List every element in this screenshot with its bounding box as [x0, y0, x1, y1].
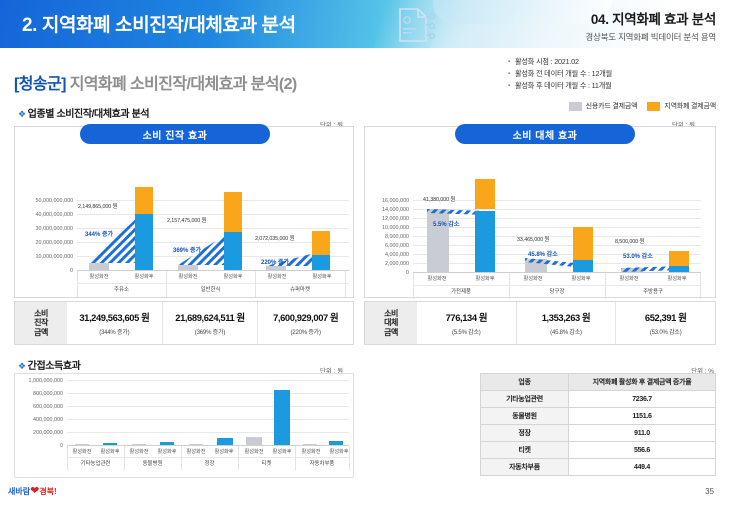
summary-label-substitution: 소비대체금액	[365, 302, 417, 344]
page-title-region: [청송군]	[14, 76, 66, 93]
data-label: 2,157,475,000 원	[167, 216, 206, 224]
summary-cell: 31,249,563,605 원 (344% 증가)	[67, 302, 162, 344]
x-group-label: 주방용구	[605, 287, 701, 295]
consumption-boost-chart: 50,000,000,000 40,000,000,000 30,000,000…	[15, 127, 353, 297]
header-right-block: 04. 지역화폐 효과 분석 경상북도 지역화폐 빅데이터 분석 용역	[585, 8, 716, 43]
gridline	[67, 393, 349, 394]
table-row: 동물병원 1151.6	[481, 408, 716, 425]
x-subtick: 활성화전	[605, 275, 653, 282]
group-divider	[67, 457, 349, 458]
bar-after-credit	[475, 211, 495, 272]
legend-swatch-local	[647, 102, 660, 111]
y-tick: 0	[365, 270, 409, 276]
x-subtick: 활성화후	[211, 273, 255, 280]
consumption-boost-chart-panel: 50,000,000,000 40,000,000,000 30,000,000…	[14, 126, 354, 298]
table-cell-category: 기타농업관련	[481, 391, 569, 408]
summary-value: 7,600,929,007 원	[273, 310, 338, 324]
indirect-income-chart-panel: 1,000,000,000 800,000,000 600,000,000 40…	[14, 373, 354, 478]
gridline	[413, 245, 701, 246]
x-group-label: 당구장	[509, 287, 605, 295]
x-subtick: 활성화전	[255, 273, 299, 280]
y-tick: 6,000,000	[365, 243, 409, 249]
table-cell-category: 티켓	[481, 442, 569, 459]
summary-value: 1,353,263 원	[542, 310, 591, 324]
x-group-label: 동물병원	[124, 459, 181, 467]
x-subtick: 활성화후	[653, 275, 701, 282]
table-row: 기타농업관련 7236.7	[481, 391, 716, 408]
x-group-label: 주유소	[77, 285, 166, 293]
section-heading-2: ❖간접소득효과	[18, 357, 80, 372]
y-tick: 20,000,000,000	[17, 240, 73, 246]
summary-cell: 652,391 원 (53.0% 감소)	[615, 302, 715, 344]
bar-after-credit	[135, 214, 153, 270]
table-cell-value: 449.4	[569, 459, 716, 476]
gridline	[413, 200, 701, 201]
y-tick: 0	[15, 443, 63, 449]
increase-rate-table: 업종 지역화폐 활성화 후 결제금액 증가율 기타농업관련 7236.7 동물병…	[480, 373, 716, 476]
summary-cell: 776,134 원 (5.5% 감소)	[417, 302, 516, 344]
bar-before	[246, 437, 262, 445]
table-cell-category: 동물병원	[481, 408, 569, 425]
bar-after	[217, 438, 233, 445]
legend-swatch-credit	[569, 102, 582, 111]
group-separator	[255, 271, 256, 297]
logo-text-a: 새바람	[8, 487, 30, 496]
x-group-label: 슈퍼마켓	[255, 285, 345, 293]
consumption-substitution-chart: 16,000,000 14,000,000 12,000,000 10,000,…	[365, 127, 715, 297]
group-separator	[166, 271, 167, 297]
y-tick: 50,000,000,000	[17, 198, 73, 204]
diamond-bullet-icon-2: ❖	[18, 361, 26, 371]
x-group-label: 기타농업관련	[67, 459, 124, 467]
percent-label: 344% 증가	[85, 229, 113, 238]
bar-after-local	[224, 192, 242, 232]
summary-cells: 776,134 원 (5.5% 감소) 1,353,263 원 (45.8% 감…	[417, 302, 715, 344]
gridline	[77, 200, 349, 201]
percent-label: 53.0% 감소	[623, 251, 653, 260]
table-header-cell: 업종	[481, 374, 569, 391]
bullet-item: 활성화 전 데이터 개월 수 : 12개월	[508, 68, 612, 80]
document-network-icon	[392, 6, 438, 44]
bar-after-local	[135, 187, 153, 214]
consumption-substitution-chart-panel: 16,000,000 14,000,000 12,000,000 10,000,…	[364, 126, 716, 298]
bar-after-local	[312, 231, 330, 255]
group-separator	[700, 273, 701, 299]
gridline	[67, 432, 349, 433]
summary-percent: (53.0% 감소)	[650, 327, 682, 336]
x-group-label: 가전제품	[413, 287, 509, 295]
y-tick: 2,000,000	[365, 261, 409, 267]
bar-after-credit	[224, 232, 242, 270]
y-tick: 0	[17, 268, 73, 274]
indirect-income-chart: 1,000,000,000 800,000,000 600,000,000 40…	[15, 374, 353, 477]
summary-cell: 1,353,263 원 (45.8% 감소)	[516, 302, 616, 344]
summary-label-boost: 소비진작금액	[15, 302, 67, 344]
x-subtick: 활성화후	[300, 273, 344, 280]
table-cell-category: 정장	[481, 425, 569, 442]
logo-text-c: 경북!	[39, 487, 56, 496]
bullet-item: 활성화 시점 : 2021.02	[508, 56, 612, 68]
group-separator	[413, 273, 414, 299]
bar-before	[132, 444, 146, 445]
group-separator	[345, 271, 346, 297]
chart-title-consumption-substitution: 소비 대체 효과	[455, 124, 635, 144]
group-divider	[77, 283, 349, 284]
x-subtick: 활성화후	[320, 448, 358, 455]
y-tick: 800,000,000	[15, 391, 63, 397]
x-subtick: 활성화후	[461, 275, 509, 282]
summary-percent: (45.8% 감소)	[550, 327, 582, 336]
y-tick: 10,000,000,000	[17, 254, 73, 260]
summary-percent: (344% 증가)	[99, 327, 129, 336]
group-separator	[605, 273, 606, 299]
header-title: 2. 지역화폐 소비진작/대체효과 분석	[22, 10, 296, 37]
table-cell-category: 자동차부품	[481, 459, 569, 476]
bar-after	[329, 441, 343, 445]
data-label: 41,380,000 원	[423, 195, 455, 203]
section-heading-2-label: 간접소득효과	[28, 361, 81, 372]
summary-value: 21,689,624,511 원	[175, 310, 244, 324]
summary-cell: 7,600,929,007 원 (220% 증가)	[257, 302, 353, 344]
organization-logo: 새바람❤경북!	[8, 484, 57, 497]
table-row: 정장 911.0	[481, 425, 716, 442]
group-separator	[509, 273, 510, 299]
percent-label: 369% 증가	[173, 245, 201, 254]
summary-value: 652,391 원	[645, 310, 687, 324]
summary-percent: (220% 증가)	[291, 327, 321, 336]
x-group-label: 티켓	[238, 459, 295, 467]
increase-wedge	[89, 214, 141, 270]
percent-label: 45.8% 감소	[528, 249, 558, 258]
bar-after	[274, 390, 290, 445]
y-tick: 40,000,000,000	[17, 212, 73, 218]
summary-value: 776,134 원	[446, 310, 488, 324]
x-axis-line	[77, 270, 349, 271]
heart-icon: ❤	[30, 485, 39, 497]
summary-cells: 31,249,563,605 원 (344% 증가) 21,689,624,51…	[67, 302, 353, 344]
summary-percent: (5.5% 감소)	[452, 327, 481, 336]
table-cell-value: 1151.6	[569, 408, 716, 425]
percent-label: 220% 증가	[261, 257, 289, 266]
y-tick: 30,000,000,000	[17, 226, 73, 232]
consumption-boost-summary-row: 소비진작금액 31,249,563,605 원 (344% 증가) 21,689…	[14, 301, 354, 345]
group-separator	[349, 446, 350, 470]
summary-cell: 21,689,624,511 원 (369% 증가)	[162, 302, 258, 344]
x-subtick: 활성화전	[413, 275, 461, 282]
gridline	[67, 406, 349, 407]
page-number: 35	[705, 487, 714, 496]
table-cell-value: 556.6	[569, 442, 716, 459]
chart-title-consumption-boost: 소비 진작 효과	[80, 124, 270, 144]
header-bullet-list: 활성화 시점 : 2021.02 활성화 전 데이터 개월 수 : 12개월 활…	[508, 56, 612, 92]
bar-after-credit	[312, 255, 330, 270]
table-row: 티켓 556.6	[481, 442, 716, 459]
group-separator	[77, 271, 78, 297]
group-divider	[413, 285, 701, 286]
slide-header: 2. 지역화폐 소비진작/대체효과 분석 04. 지역화폐 효과 분석 경상북도…	[0, 0, 730, 48]
x-group-label: 일반한식	[166, 285, 255, 293]
gridline	[67, 380, 349, 381]
chart-legend: 신용카드 결제금액 지역화폐 결제금액	[569, 101, 716, 111]
table-header-cell: 지역화폐 활성화 후 결제금액 증가율	[569, 374, 716, 391]
bar-after-local	[669, 251, 689, 266]
data-label: 8,500,000 원	[615, 237, 644, 245]
gridline	[67, 419, 349, 420]
y-tick: 400,000,000	[15, 417, 63, 423]
consumption-substitution-summary-row: 소비대체금액 776,134 원 (5.5% 감소) 1,353,263 원 (…	[364, 301, 716, 345]
diamond-bullet-icon: ❖	[18, 109, 26, 119]
x-group-label: 자동차부품	[295, 459, 349, 467]
x-subtick: 활성화전	[166, 273, 210, 280]
x-group-label: 정장	[181, 459, 238, 467]
table-row: 자동차부품 449.4	[481, 459, 716, 476]
bar-after	[103, 443, 117, 445]
y-tick: 10,000,000	[365, 225, 409, 231]
slide: 2. 지역화폐 소비진작/대체효과 분석 04. 지역화폐 효과 분석 경상북도…	[0, 0, 730, 505]
legend-label-local: 지역화폐 결제금액	[664, 101, 716, 111]
legend-item-local: 지역화폐 결제금액	[647, 101, 716, 111]
gridline	[413, 236, 701, 237]
y-tick: 12,000,000	[365, 216, 409, 222]
section-heading-1-label: 업종별 소비진작/대체효과 분석	[28, 109, 150, 120]
data-label: 2,149,865,000 원	[78, 202, 117, 210]
section-heading-1: ❖업종별 소비진작/대체효과 분석	[18, 105, 149, 120]
data-label: 33,465,000 원	[517, 235, 549, 243]
y-tick: 600,000,000	[15, 404, 63, 410]
x-subtick: 활성화후	[557, 275, 605, 282]
bar-after-credit	[573, 260, 593, 272]
bullet-item: 활성화 후 데이터 개월 수 : 11개월	[508, 80, 612, 92]
legend-item-credit: 신용카드 결제금액	[569, 101, 638, 111]
bar-after-local	[573, 227, 593, 260]
x-subtick: 활성화전	[77, 273, 121, 280]
y-tick: 200,000,000	[15, 430, 63, 436]
page-title-rest: 지역화폐 소비진작/대체효과 분석(2)	[70, 76, 297, 93]
table-header-row: 업종 지역화폐 활성화 후 결제금액 증가율	[481, 374, 716, 391]
bar-before	[75, 444, 89, 445]
legend-label-credit: 신용카드 결제금액	[586, 101, 638, 111]
bar-before	[189, 444, 203, 445]
y-tick: 8,000,000	[365, 234, 409, 240]
table-cell-value: 911.0	[569, 425, 716, 442]
x-subtick: 활성화전	[509, 275, 557, 282]
data-label: 2,072,035,000 원	[255, 234, 294, 242]
x-subtick: 활성화후	[122, 273, 166, 280]
y-tick: 1,000,000,000	[15, 378, 63, 384]
x-axis-line	[67, 445, 349, 446]
bar-after-local	[475, 179, 495, 209]
table-cell-value: 7236.7	[569, 391, 716, 408]
page-title: [청송군] 지역화폐 소비진작/대체효과 분석(2)	[14, 70, 297, 94]
y-tick: 14,000,000	[365, 207, 409, 213]
summary-value: 31,249,563,605 원	[79, 310, 149, 324]
header-section-title: 04. 지역화폐 효과 분석	[585, 8, 716, 28]
y-tick: 4,000,000	[365, 252, 409, 258]
header-section-subtitle: 경상북도 지역화폐 빅데이터 분석 용역	[585, 31, 716, 43]
bar-before	[303, 444, 317, 445]
bar-after	[160, 442, 174, 445]
bar-after-credit	[669, 266, 689, 272]
summary-percent: (369% 증가)	[195, 327, 225, 336]
percent-label: 5.5% 감소	[433, 219, 459, 228]
y-tick: 16,000,000	[365, 198, 409, 204]
